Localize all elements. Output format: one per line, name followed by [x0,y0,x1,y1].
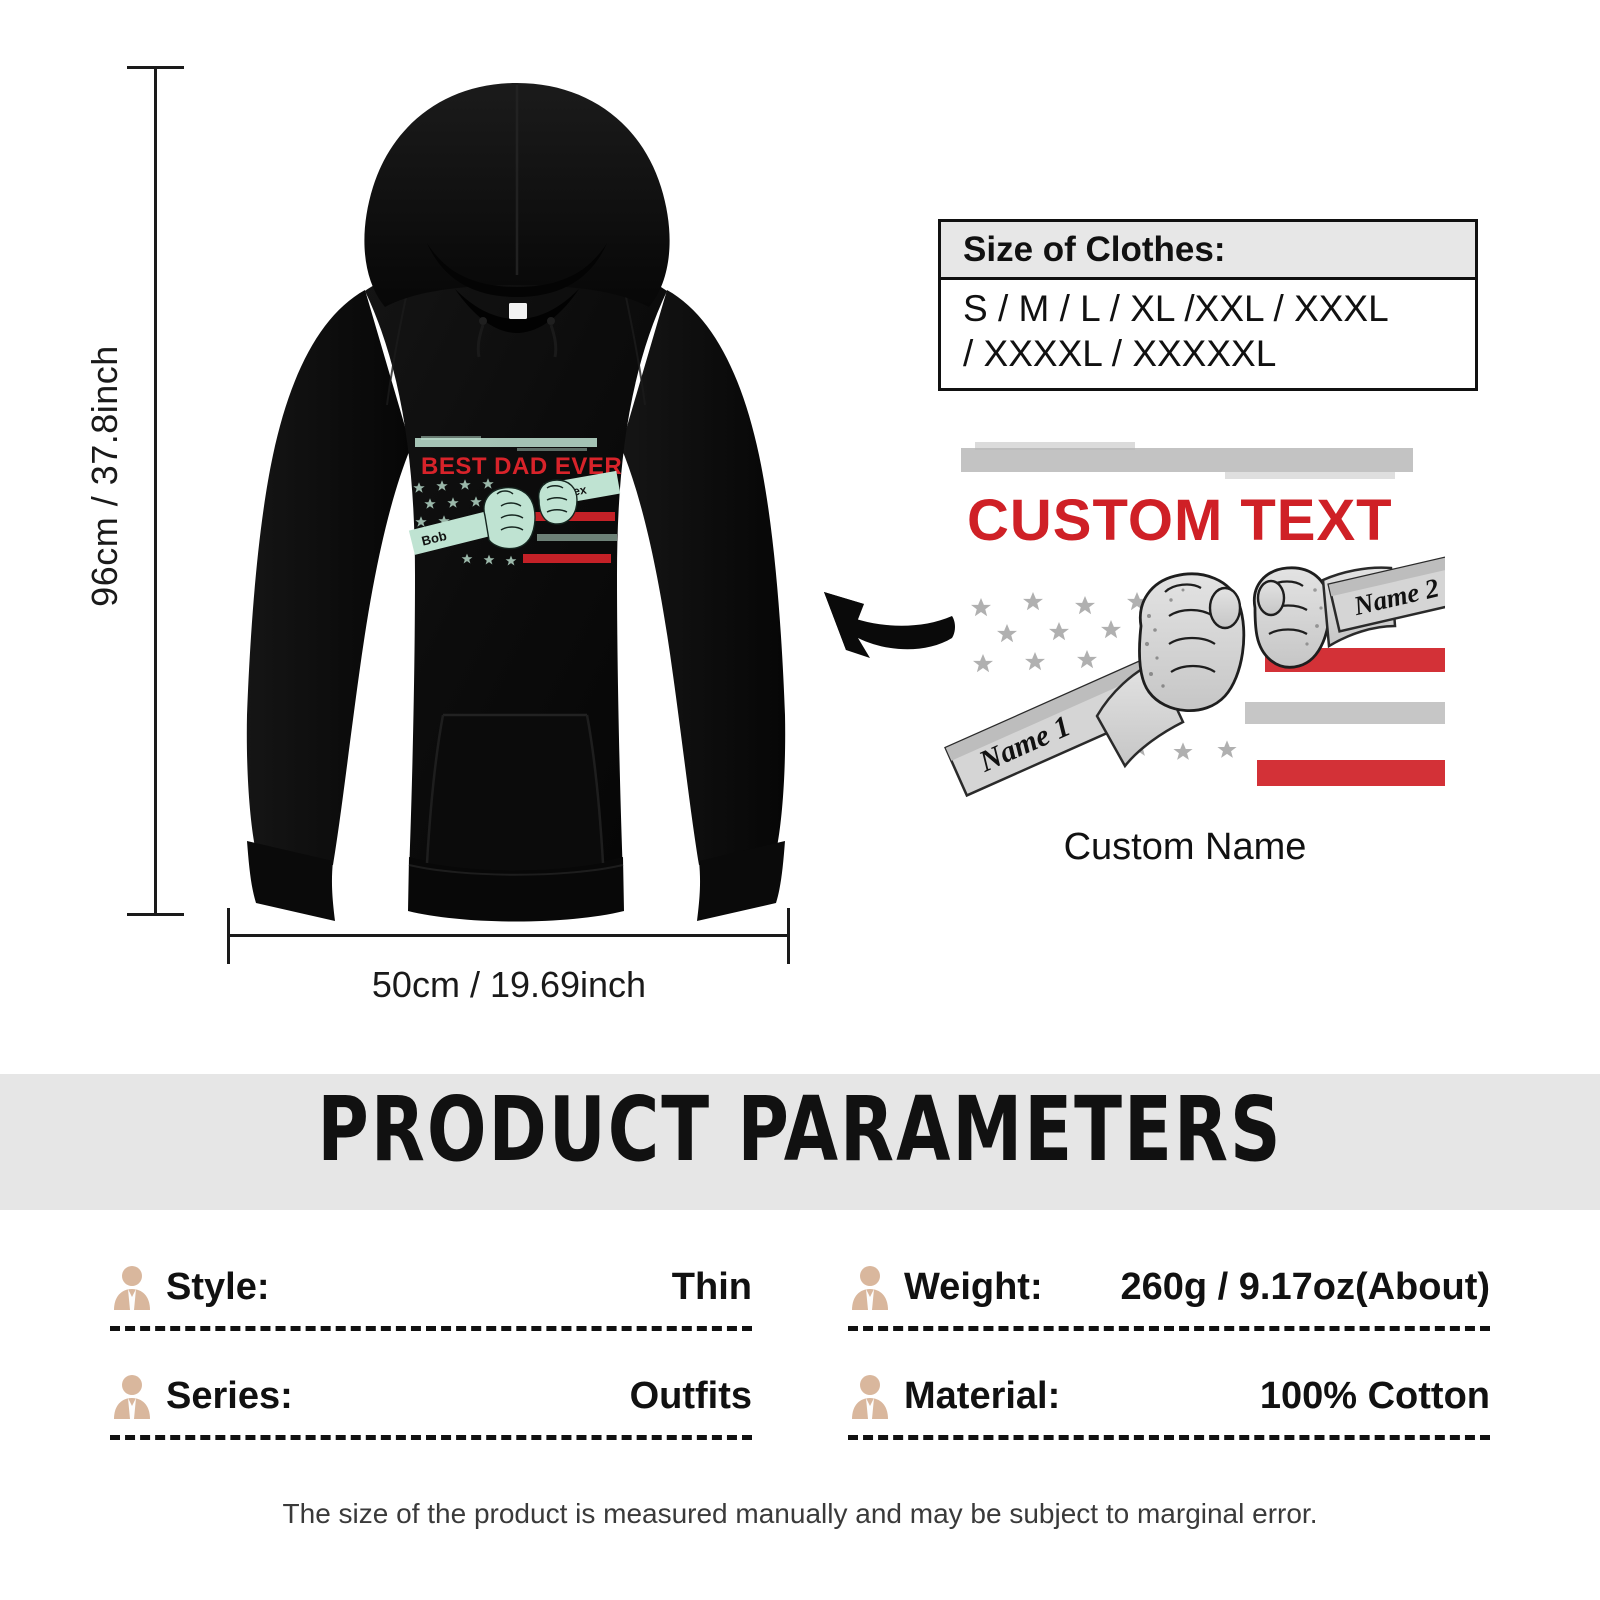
design-custom-text: CUSTOM TEXT [967,488,1393,553]
person-icon [848,1373,892,1419]
custom-design-artwork: CUSTOM TEXT Name 1 [925,430,1445,820]
parameter-key: Weight: [904,1266,1043,1309]
width-dimension-cap-right [787,908,790,964]
parameter-divider [848,1326,1490,1331]
parameter-value: Outfits [630,1375,752,1418]
person-icon [848,1264,892,1310]
parameter-cell-weight: Weight: 260g / 9.17oz(About) Material: 1… [848,1248,1490,1466]
product-parameters-title: PRODUCT PARAMETERS [0,1086,1600,1178]
parameter-value: 260g / 9.17oz(About) [1121,1266,1491,1309]
parameter-divider [110,1326,752,1331]
product-parameters-grid: Style: Thin Series: Outfits [110,1248,1490,1466]
person-icon [110,1373,154,1419]
parameter-row: Series: Outfits [110,1357,752,1435]
parameter-key: Series: [166,1375,293,1418]
parameter-cell-style: Style: Thin Series: Outfits [110,1248,752,1466]
size-of-clothes-title: Size of Clothes: [963,230,1226,270]
height-measurement-label: 96cm / 37.8inch [84,311,126,641]
parameter-value: Thin [672,1266,752,1309]
height-dimension-line [154,68,157,916]
size-list-line-2: / XXXXL / XXXXXL [963,331,1459,376]
size-of-clothes-body: S / M / L / XL /XXL / XXXL / XXXXL / XXX… [941,280,1475,376]
person-icon [110,1264,154,1310]
parameter-value: 100% Cotton [1260,1375,1490,1418]
size-list-line-1: S / M / L / XL /XXL / XXXL [963,286,1459,331]
design-caption: Custom Name [925,826,1445,869]
size-of-clothes-header: Size of Clothes: [941,222,1475,280]
measurement-disclaimer: The size of the product is measured manu… [0,1498,1600,1530]
parameter-divider [848,1435,1490,1440]
size-of-clothes-box: Size of Clothes: S / M / L / XL /XXL / X… [938,219,1478,391]
parameter-key: Material: [904,1375,1060,1418]
parameter-key: Style: [166,1266,269,1309]
width-measurement-label: 50cm / 19.69inch [228,964,790,1006]
hoodie-chest-print: BEST DAD EVER Bob Alex [397,424,627,584]
product-parameters-title-text: PRODUCT PARAMETERS [317,1086,1282,1178]
product-listing-canvas: 96cm / 37.8inch [0,0,1600,1600]
parameter-row: Style: Thin [110,1248,752,1326]
parameter-divider [110,1435,752,1440]
parameter-row: Material: 100% Cotton [848,1357,1490,1435]
parameter-row: Weight: 260g / 9.17oz(About) [848,1248,1490,1326]
height-dimension-cap-bottom [127,913,184,916]
width-dimension-line [228,934,790,937]
